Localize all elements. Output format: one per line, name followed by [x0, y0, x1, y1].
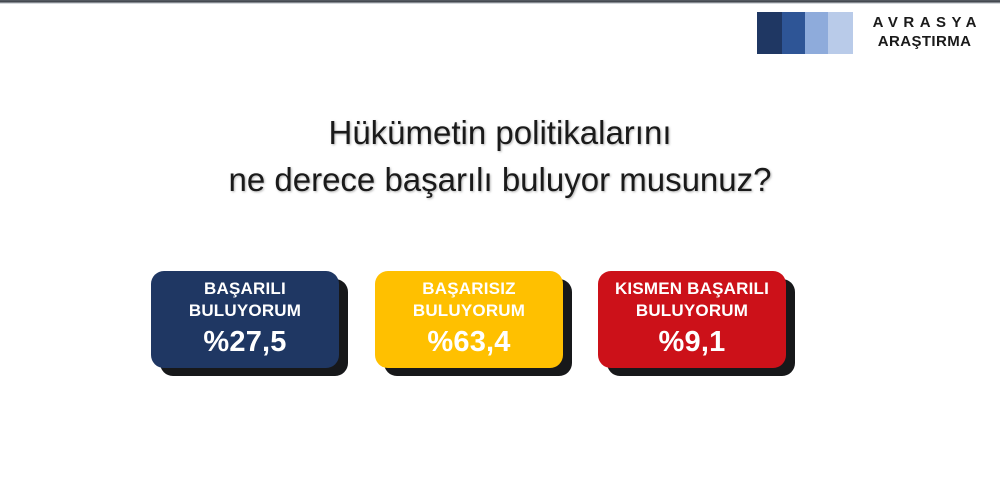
logo-text: AVRASYA ARAŞTIRMA [867, 14, 982, 52]
result-card-label-line-2: BULUYORUM [413, 301, 525, 320]
result-card-label-line-1: BAŞARISIZ [422, 279, 515, 298]
result-card-value: %9,1 [659, 326, 726, 359]
result-card-label-line-2: BULUYORUM [189, 301, 301, 320]
logo-bars-icon [757, 12, 853, 54]
logo-subname: ARAŞTIRMA [878, 33, 972, 52]
result-card-label-line-1: KISMEN BAŞARILI [615, 279, 769, 298]
result-card-basarisiz: BAŞARISIZ BULUYORUM %63,4 [375, 271, 563, 368]
result-card-value: %63,4 [427, 326, 510, 359]
result-cards: BAŞARILI BULUYORUM %27,5 BAŞARISIZ BULUY… [0, 271, 1000, 381]
page-title-line-1: Hükümetin politikalarını [0, 110, 1000, 157]
result-card-label-line-2: BULUYORUM [636, 301, 748, 320]
result-card-label: BAŞARILI BULUYORUM [189, 278, 301, 323]
result-card-basarili: BAŞARILI BULUYORUM %27,5 [151, 271, 339, 368]
result-card-kismen-basarili: KISMEN BAŞARILI BULUYORUM %9,1 [598, 271, 786, 368]
result-card-label-line-1: BAŞARILI [204, 279, 286, 298]
top-accent-strip [0, 0, 1000, 4]
logo-bar-4 [828, 12, 853, 54]
result-card-label: KISMEN BAŞARILI BULUYORUM [615, 278, 769, 323]
brand-logo: AVRASYA ARAŞTIRMA [757, 12, 982, 54]
result-card-value: %27,5 [203, 326, 286, 359]
page-title-line-2: ne derece başarılı buluyor musunuz? [0, 157, 1000, 204]
logo-bar-2 [782, 12, 805, 54]
result-card-label: BAŞARISIZ BULUYORUM [413, 278, 525, 323]
logo-name: AVRASYA [867, 14, 982, 33]
page-title: Hükümetin politikalarını ne derece başar… [0, 110, 1000, 204]
logo-bar-1 [757, 12, 782, 54]
logo-bar-3 [805, 12, 828, 54]
